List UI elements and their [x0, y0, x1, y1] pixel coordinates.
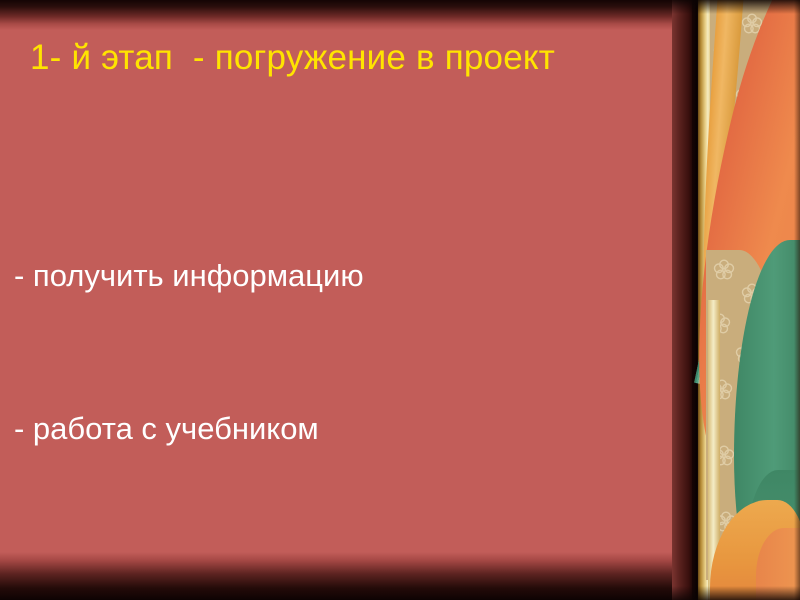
list-item: - работа в паре; [14, 556, 654, 600]
border-bottom-shadow [672, 586, 800, 600]
border-maroon-band [672, 0, 694, 600]
decorative-border-panel [672, 0, 800, 600]
list-item: - получить информацию [14, 250, 654, 301]
slide-bullet-list: - получить информацию - работа с учебник… [14, 148, 654, 600]
border-outer-edge [794, 0, 800, 600]
slide-title: 1- й этап - погружение в проект [30, 36, 650, 80]
presentation-slide: 1- й этап - погружение в проект - получи… [0, 0, 800, 600]
list-item: - работа с учебником [14, 403, 654, 454]
border-top-shadow [672, 0, 800, 14]
